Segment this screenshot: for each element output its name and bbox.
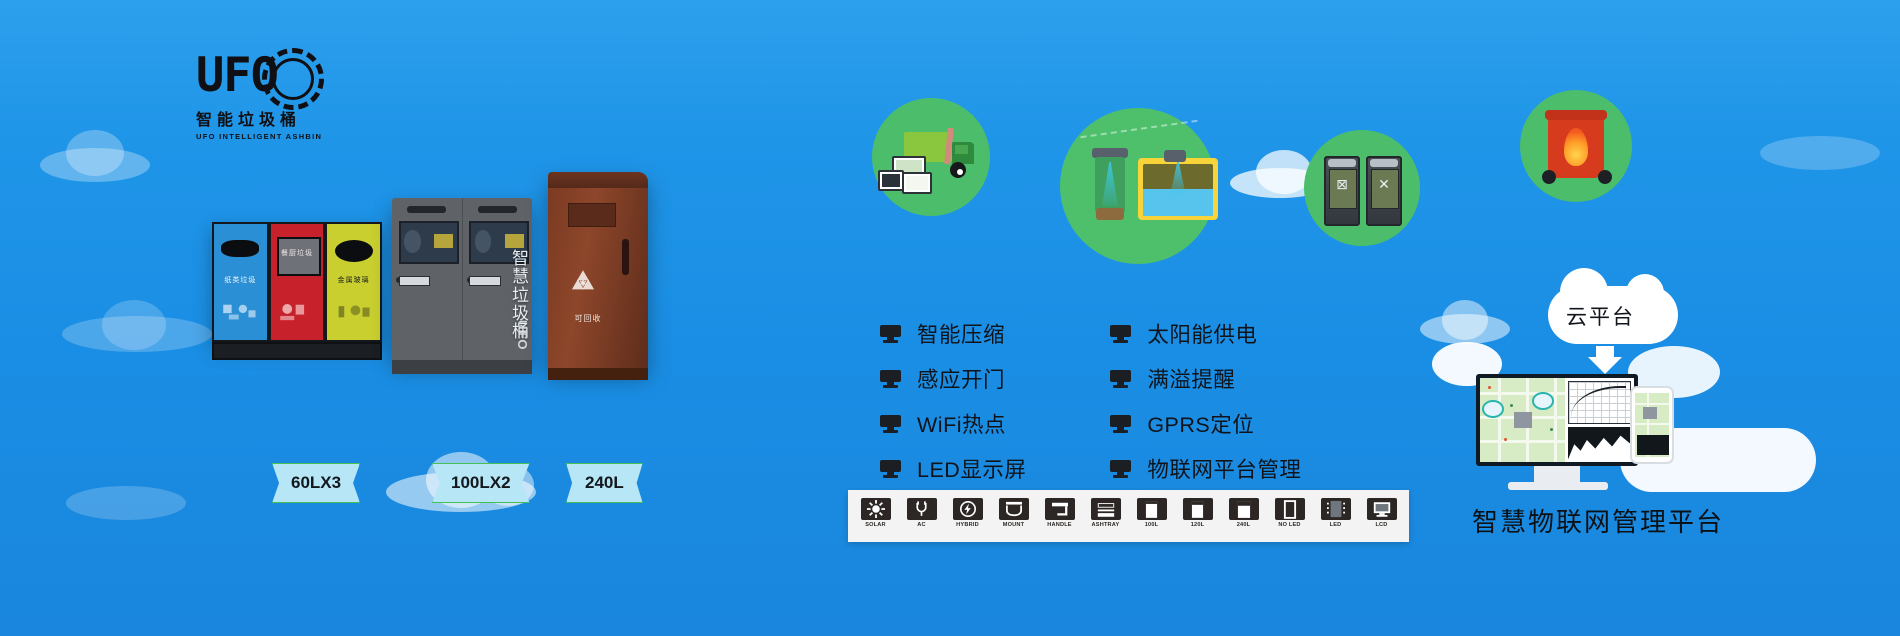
two-compartment-smart-bin (392, 198, 532, 360)
overflow-level-indicator-icon (1138, 158, 1218, 220)
feature-label: GPRS定位 (1147, 408, 1254, 439)
compact-symbol: ✕ (1376, 176, 1391, 191)
brand-logo: UFO 智能垃圾桶 UFO INTELLIGENT ASHBIN (196, 52, 326, 152)
bin-120l-icon (1183, 498, 1213, 520)
bin-plate (568, 203, 616, 227)
feature-label: 智能压缩 (917, 318, 1005, 349)
bin-cap (1370, 159, 1398, 166)
promotional-banner: UFO 智能垃圾桶 UFO INTELLIGENT ASHBIN 纸类垃圾 餐厨… (0, 0, 1900, 636)
bin-lid (1545, 110, 1608, 120)
feature-item: LED显示屏 (880, 453, 1026, 484)
spec-label: NO LED (1278, 522, 1300, 528)
sensor-head (1164, 150, 1186, 162)
compaction-bin-left-icon: ⊠ (1324, 156, 1360, 226)
spec-label: 240L (1237, 522, 1251, 528)
spec-item-no-led[interactable]: NO LED (1269, 498, 1310, 534)
feature-label: 太阳能供电 (1147, 318, 1257, 349)
flame-icon (1564, 128, 1588, 166)
bin-cell-kitchen: 餐厨垃圾 (269, 222, 326, 342)
bin-brand-mark: UFO (515, 320, 530, 350)
capacity-banner-100lx2: 100LX2 (432, 463, 530, 503)
spec-label: AC (917, 522, 925, 528)
spec-label: LED (1330, 522, 1342, 528)
plug-icon (907, 498, 937, 520)
spec-item-mount[interactable]: MOUNT (993, 498, 1034, 534)
monitor-base (1508, 482, 1608, 490)
spec-label: HYBRID (956, 522, 979, 528)
wall-mount-icon (999, 498, 1029, 520)
screen-graphic (475, 230, 492, 253)
spec-item-lcd[interactable]: LCD (1361, 498, 1402, 534)
feature-item: 太阳能供电 (1110, 318, 1301, 349)
bin-cell-paper: 纸类垃圾 (212, 222, 269, 342)
ashtray-icon (1091, 498, 1121, 520)
spec-item-ac[interactable]: AC (901, 498, 942, 534)
monitor-screen (1480, 378, 1634, 462)
spec-item-led[interactable]: LED (1315, 498, 1356, 534)
bin-cell-label: 纸类垃圾 (214, 275, 267, 285)
feature-label: WiFi热点 (917, 408, 1006, 439)
feature-column-left: 智能压缩 感应开门 WiFi热点 LED显示屏 (880, 318, 1026, 484)
handle-icon (1045, 498, 1075, 520)
feature-item: 物联网平台管理 (1110, 453, 1301, 484)
monitor-device-icon (878, 170, 904, 191)
monitor-icon (880, 325, 901, 342)
monitor-icon (880, 415, 901, 432)
recycle-symbol-icon (566, 266, 600, 300)
sensor-strip (407, 206, 446, 213)
spec-item-240l[interactable]: 240L (1223, 498, 1264, 534)
tablet-icon (1630, 386, 1674, 464)
screen-graphic (404, 230, 421, 253)
lcd-icon (1367, 498, 1397, 520)
spec-item-120l[interactable]: 120L (1177, 498, 1218, 534)
cloud-platform-label: 云平台 (1566, 301, 1635, 331)
spec-item-handle[interactable]: HANDLE (1039, 498, 1080, 534)
feature-label: 物联网平台管理 (1147, 453, 1301, 484)
smart-bin-unit (392, 198, 463, 360)
bin-base (548, 368, 648, 380)
bin-240l-icon (1229, 498, 1259, 520)
bin-lid (548, 172, 648, 188)
sensor-strip (478, 206, 517, 213)
single-240l-bin: 可回收 (548, 172, 648, 368)
capacity-banner-240l: 240L (566, 463, 643, 503)
monitor-icon (880, 460, 901, 477)
bin-cap (1328, 159, 1356, 166)
compact-symbol: ⊠ (1334, 176, 1349, 191)
feature-label: 感应开门 (917, 363, 1005, 394)
feature-item: 智能压缩 (880, 318, 1026, 349)
spec-icon-strip: SOLAR AC HYBRID MOUNT (848, 490, 1409, 542)
recycling-graphic (219, 289, 261, 333)
logo-chinese-name: 智能垃圾桶 (196, 106, 326, 130)
spec-label: ASHTRAY (1092, 522, 1120, 528)
feature-label: LED显示屏 (917, 453, 1026, 484)
feature-label: 满溢提醒 (1147, 363, 1235, 394)
bin-wheel (1542, 170, 1556, 184)
spec-label: 100L (1145, 522, 1159, 528)
feature-column-right: 太阳能供电 满溢提醒 GPRS定位 物联网平台管理 (1110, 318, 1301, 484)
bin-display-screen (399, 221, 459, 264)
bin-handle (469, 276, 500, 286)
bin-label: 可回收 (560, 313, 616, 324)
screen-graphic (434, 234, 453, 248)
area-chart (1568, 427, 1631, 459)
screen-graphic (505, 234, 524, 248)
spec-item-100l[interactable]: 100L (1131, 498, 1172, 534)
monitor-icon (880, 370, 901, 387)
no-led-icon (1275, 498, 1305, 520)
bin-wheel (1598, 170, 1612, 184)
spec-item-ashtray[interactable]: ASHTRAY (1085, 498, 1126, 534)
spec-label: 120L (1191, 522, 1205, 528)
bin-cell-label: 餐厨垃圾 (271, 248, 324, 258)
feature-item: GPRS定位 (1110, 408, 1301, 439)
ufo-ring-inner-icon (272, 58, 314, 100)
recycling-graphic (333, 289, 375, 333)
three-compartment-bin: 纸类垃圾 餐厨垃圾 金属玻璃 (212, 222, 382, 342)
spec-label: MOUNT (1003, 522, 1025, 528)
monitor-icon (1110, 370, 1131, 387)
map-dashboard (1480, 378, 1565, 462)
logo-english-name: UFO INTELLIGENT ASHBIN (196, 132, 326, 141)
bin-slot (221, 240, 259, 257)
feature-list: 智能压缩 感应开门 WiFi热点 LED显示屏 太阳能供电 满溢提醒 (880, 318, 1301, 484)
truck-wheel (950, 162, 966, 178)
feature-circle-fire-detection (1520, 90, 1632, 202)
bin-base (212, 342, 382, 360)
feature-circle-smart-collection (872, 98, 990, 216)
monitor-icon (1110, 460, 1131, 477)
truck-window (955, 145, 968, 154)
sun-icon (861, 498, 891, 520)
hybrid-power-icon (953, 498, 983, 520)
monitor-icon (1110, 415, 1131, 432)
bin-handle (399, 276, 430, 286)
spec-label: HANDLE (1047, 522, 1072, 528)
bin-base (392, 360, 532, 374)
chart-panel (1565, 378, 1634, 462)
monitor-icon (1110, 325, 1131, 342)
cloud-platform-title: 智慧物联网管理平台 (1472, 502, 1724, 539)
line-chart (1568, 381, 1631, 424)
feature-item: 感应开门 (880, 363, 1026, 394)
feature-item: 满溢提醒 (1110, 363, 1301, 394)
overflow-sensor-bin-icon (1090, 148, 1130, 226)
spec-item-hybrid[interactable]: HYBRID (947, 498, 988, 534)
bin-100l-icon (1137, 498, 1167, 520)
spec-label: LCD (1375, 522, 1387, 528)
bin-slot (335, 240, 373, 262)
compaction-bin-right-icon: ✕ (1366, 156, 1402, 226)
led-icon (1321, 498, 1351, 520)
desktop-monitor-icon (1476, 374, 1638, 466)
capacity-banner-60lx3: 60LX3 (272, 463, 360, 503)
recycling-graphic (276, 289, 318, 333)
bin-cell-metal-glass: 金属玻璃 (325, 222, 382, 342)
spec-item-solar[interactable]: SOLAR (855, 498, 896, 534)
feature-item: WiFi热点 (880, 408, 1026, 439)
tablet-screen (1635, 393, 1669, 457)
cloud-platform-illustration: 云平台 (1478, 288, 1808, 498)
feature-circle-compaction: ⊠ ✕ (1304, 130, 1420, 246)
monitor-stand (1534, 466, 1580, 482)
tablet-device-icon (902, 172, 932, 194)
trash-pile (1096, 208, 1124, 220)
fire-detection-bin-icon (1548, 116, 1604, 178)
bin-cell-label: 金属玻璃 (327, 275, 380, 285)
bin-slot (622, 239, 629, 275)
spec-label: SOLAR (865, 522, 886, 528)
